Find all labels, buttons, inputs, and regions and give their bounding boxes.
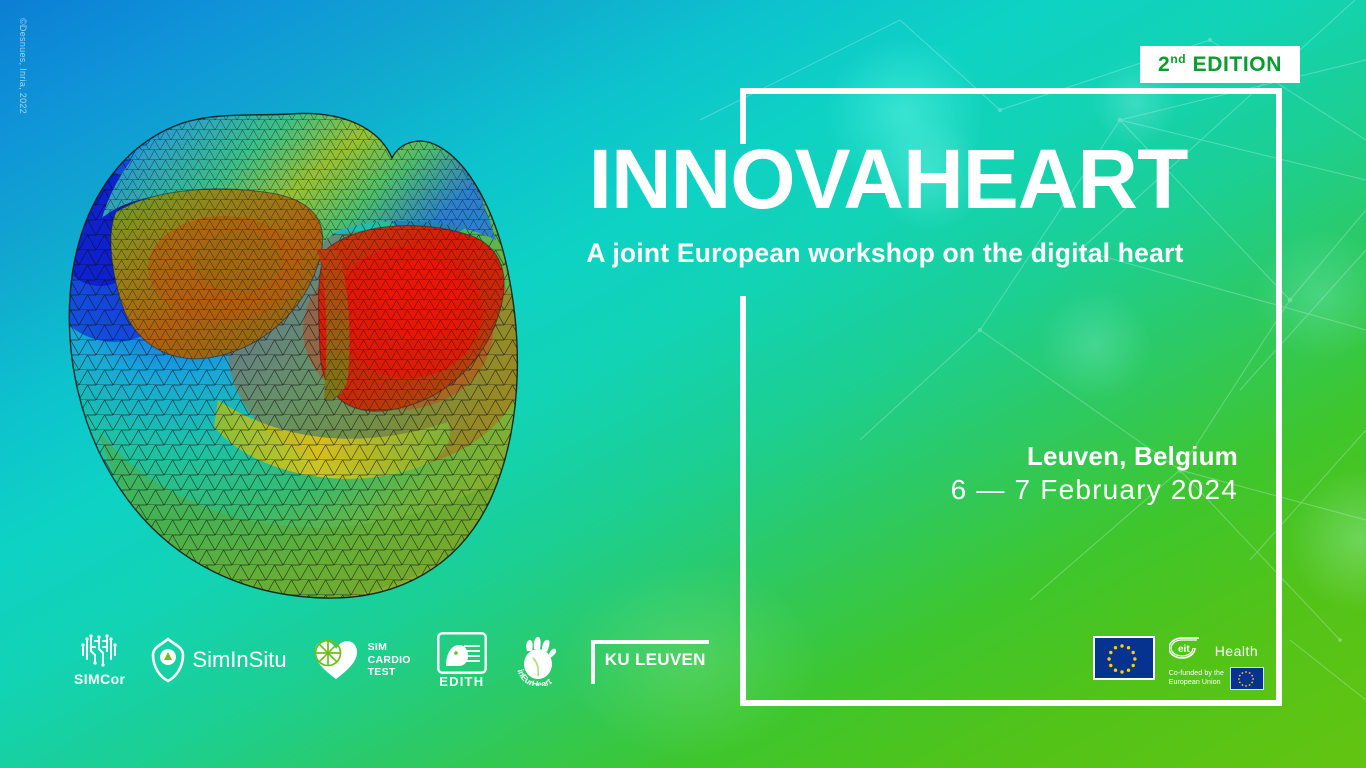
event-location: Leuven, Belgium xyxy=(1027,441,1238,472)
frame-bottom-edge xyxy=(740,700,1282,706)
heart-shield-icon xyxy=(151,637,185,683)
photo-credit: ©Desnues, Inria, 2022 xyxy=(18,18,28,114)
bracket-frame-icon xyxy=(591,640,595,684)
simcor-logo[interactable]: SIMCor xyxy=(74,633,125,687)
svg-text:eit: eit xyxy=(1178,644,1190,655)
head-profile-icon xyxy=(437,632,487,674)
frame-top-edge xyxy=(740,88,1282,94)
page-title: INNOVAHEART xyxy=(528,140,1248,220)
heart-wheel-icon xyxy=(313,639,359,681)
eit-cofunded-text: Co-funded by the European Union xyxy=(1169,670,1224,688)
glow-blob xyxy=(1285,470,1366,610)
frame-left-edge-lower xyxy=(740,296,746,706)
partner-logos-row: SIMCor SimInSitu xyxy=(74,622,718,698)
kuleuven-label: KU LEUVEN xyxy=(605,650,706,670)
page-subtitle: A joint European workshop on the digital… xyxy=(520,238,1250,269)
edition-ordinal: nd xyxy=(1170,52,1186,66)
european-union-flag xyxy=(1093,636,1155,680)
innovaheart-poster: ©Desnues, Inria, 2022 xyxy=(0,0,1366,768)
edith-label: EDITH xyxy=(439,674,484,689)
simcardiotest-label: SIM CARDIO TEST xyxy=(368,641,411,678)
eit-health-word: Health xyxy=(1215,643,1258,659)
edition-badge: 2nd EDITION xyxy=(1140,46,1300,83)
glow-blob xyxy=(1035,290,1155,400)
kuleuven-logo[interactable]: KU LEUVEN xyxy=(591,640,718,680)
ineurheart-logo[interactable]: inEurHeart xyxy=(513,634,565,686)
heart-fem-mesh xyxy=(28,100,548,610)
bracket-frame-icon xyxy=(591,640,709,644)
frame-right-edge xyxy=(1276,88,1282,706)
anatomical-heart-icon: inEurHeart xyxy=(513,634,565,686)
glow-blob xyxy=(1250,230,1366,360)
siminsitu-logo[interactable]: SimInSitu xyxy=(151,637,286,683)
funding-logos: eit Health Co-funded by the European Uni… xyxy=(1093,636,1264,690)
european-union-mini-flag xyxy=(1230,667,1264,690)
eit-health-logo[interactable]: eit Health Co-funded by the European Uni… xyxy=(1169,636,1264,690)
event-dates: 6 — 7 February 2024 xyxy=(951,474,1238,506)
eit-mark-icon: eit xyxy=(1169,636,1209,665)
edition-label: EDITION xyxy=(1193,53,1282,76)
siminsitu-label: SimInSitu xyxy=(192,647,286,673)
heart-circuit-icon xyxy=(79,633,121,669)
simcardiotest-logo[interactable]: SIM CARDIO TEST xyxy=(313,639,411,681)
simcor-label: SIMCor xyxy=(74,671,125,687)
edition-number: 2 xyxy=(1158,53,1170,76)
edith-logo[interactable]: EDITH xyxy=(437,632,487,689)
